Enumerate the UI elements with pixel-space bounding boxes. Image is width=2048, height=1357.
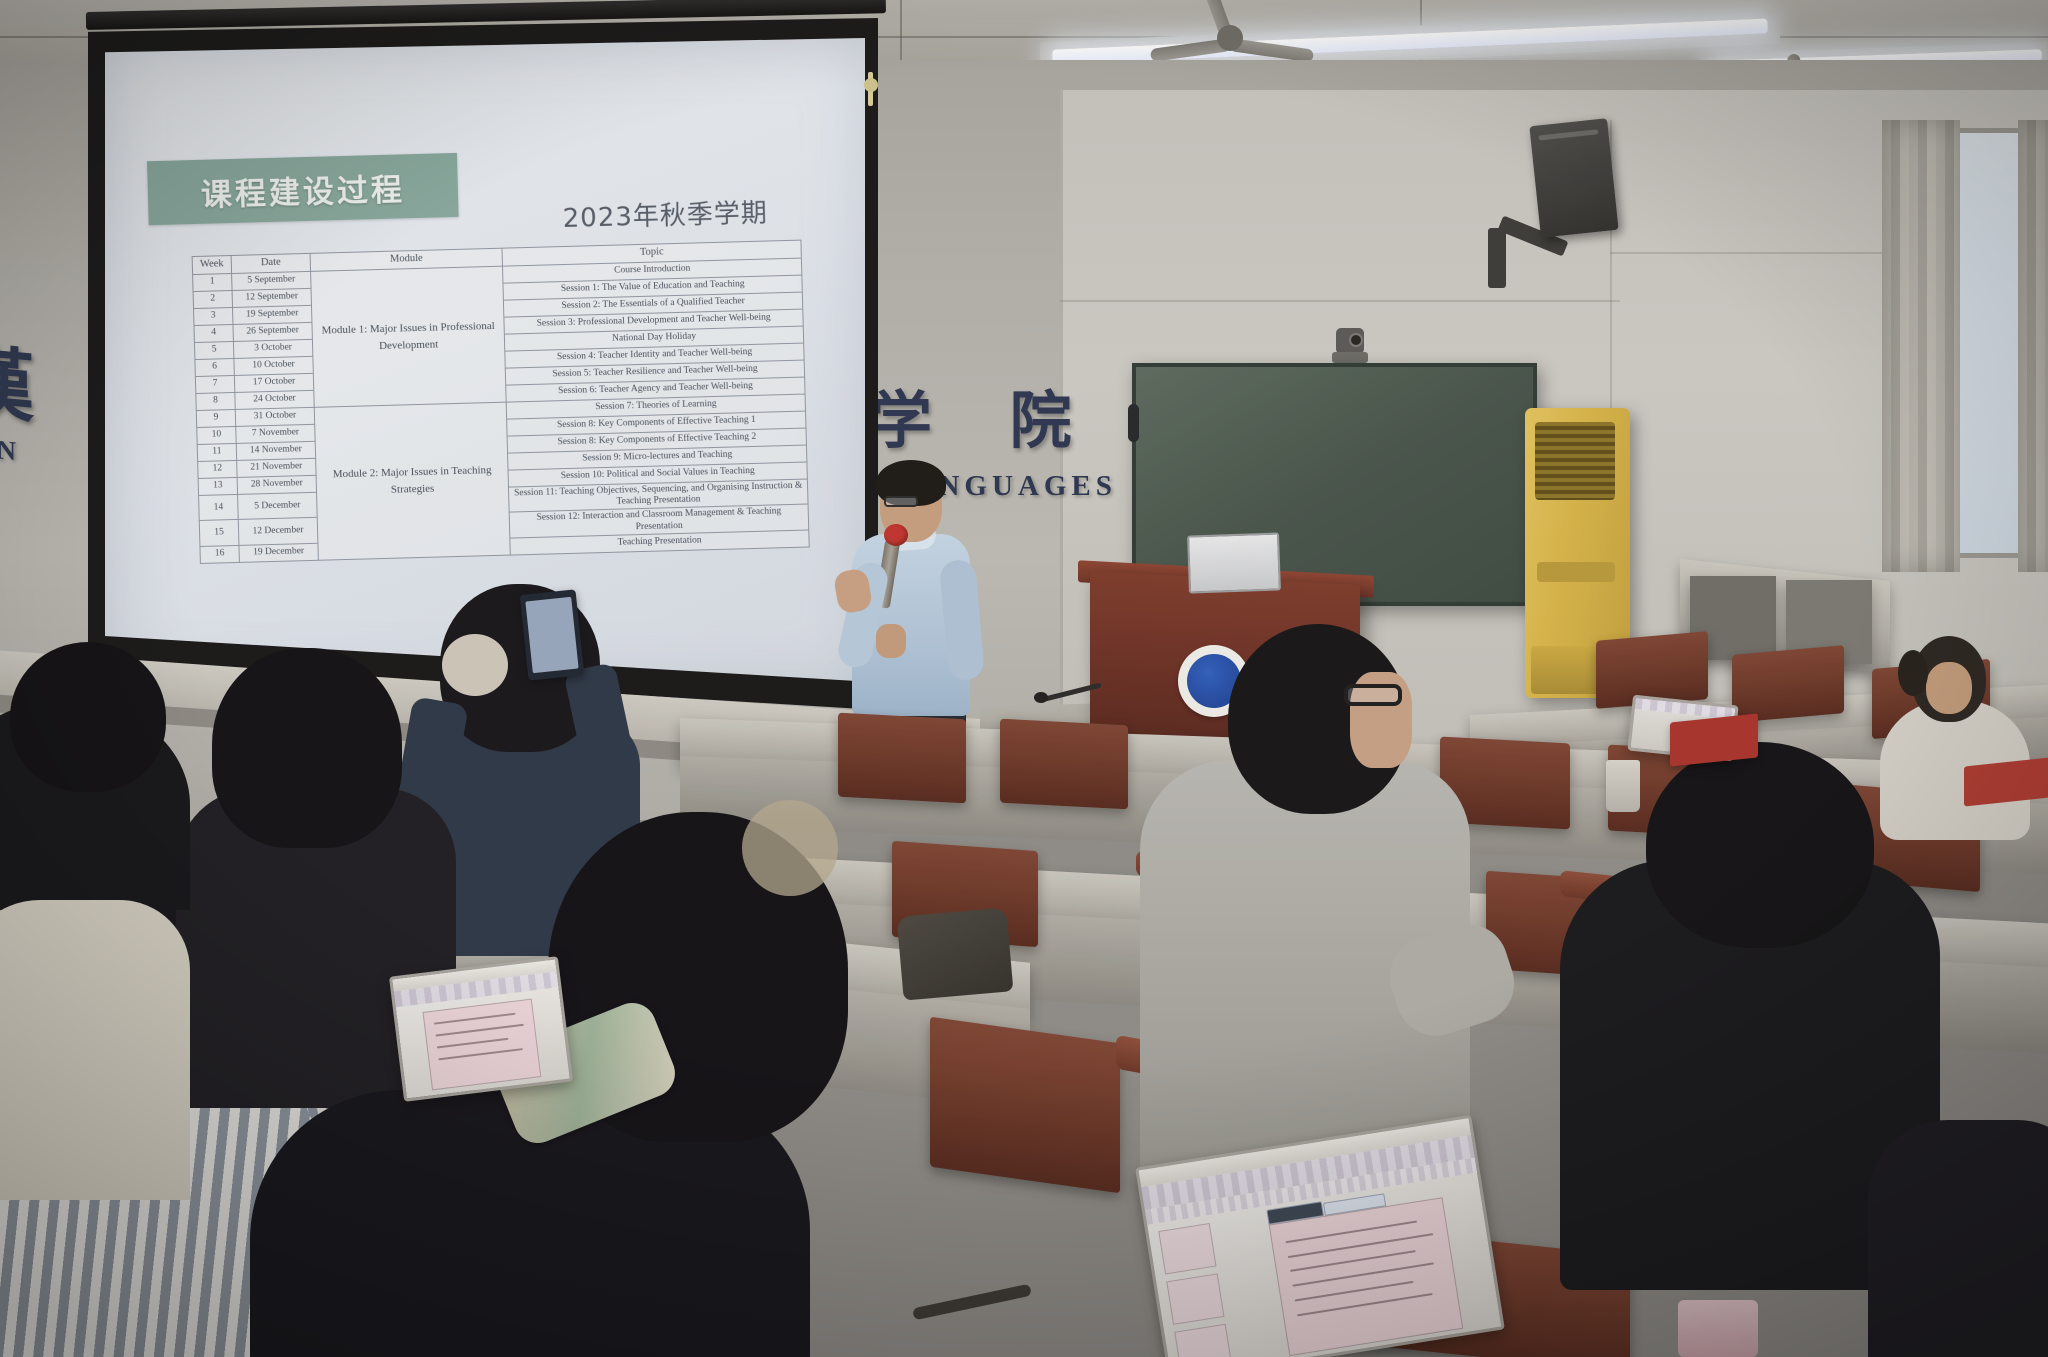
- cell-date: 12 September: [232, 288, 311, 307]
- col-date: Date: [231, 253, 310, 273]
- cell-date: 7 November: [236, 424, 315, 443]
- cell-week: 3: [194, 307, 233, 325]
- schedule-table-body: 15 SeptemberModule 1: Major Issues in Pr…: [193, 258, 810, 563]
- cell-week: 11: [197, 443, 236, 461]
- bench-seat: [1732, 645, 1844, 723]
- cell-week: 7: [195, 375, 234, 393]
- cell-date: 21 November: [237, 458, 316, 477]
- cell-date: 26 September: [233, 322, 312, 341]
- slide-banner: 课程建设过程: [147, 153, 459, 225]
- bench-seat: [930, 1017, 1120, 1194]
- cell-week: 12: [198, 460, 237, 478]
- wall-sign-right-cn: 学 院: [870, 370, 1100, 460]
- pen[interactable]: [912, 1284, 1032, 1321]
- curtain: [1882, 120, 1960, 572]
- cell-date: 24 October: [235, 390, 314, 409]
- audience-head: [1646, 742, 1874, 948]
- cell-date: 19 December: [239, 543, 318, 562]
- ac-grill: [1535, 422, 1615, 500]
- drink-cup[interactable]: [1678, 1300, 1758, 1357]
- laptop-screen[interactable]: [389, 956, 573, 1102]
- cell-date: 5 December: [238, 492, 318, 520]
- cell-week: 15: [199, 520, 239, 546]
- slide-title: 课程建设过程: [200, 164, 405, 215]
- backpack[interactable]: [897, 907, 1014, 1000]
- audience-hair: [1898, 650, 1928, 696]
- cell-week: 6: [195, 358, 234, 376]
- microphone-head-icon[interactable]: [884, 524, 908, 546]
- laptop-thumbnail[interactable]: [1174, 1323, 1232, 1357]
- course-schedule-table: Week Date Module Topic 15 SeptemberModul…: [192, 240, 810, 564]
- schedule-table-wrapper: Week Date Module Topic 15 SeptemberModul…: [192, 240, 810, 564]
- wall-seam: [1060, 300, 1620, 302]
- board-hinge: [1128, 404, 1139, 442]
- cell-week: 1: [193, 274, 232, 292]
- wall-speaker-icon: [1529, 118, 1618, 238]
- cell-week: 16: [200, 545, 239, 563]
- audience-torso: [0, 900, 190, 1200]
- cell-date: 12 December: [238, 518, 318, 546]
- laptop-document: [1269, 1197, 1463, 1356]
- cell-date: 28 November: [237, 475, 316, 494]
- cell-date: 17 October: [234, 373, 313, 392]
- wall-sign-left-en: HAN: [0, 430, 20, 467]
- presenter-glasses: [884, 496, 918, 507]
- col-week: Week: [192, 256, 231, 275]
- wall-sign-left-cn: 漢: [0, 319, 34, 438]
- laptop-document: [423, 999, 542, 1091]
- eyeglasses-icon: [1344, 684, 1402, 706]
- cell-week: 14: [199, 494, 239, 520]
- ptz-camera-icon: [1332, 328, 1368, 362]
- cell-module: Module 1: Major Issues in Professional D…: [311, 266, 507, 407]
- presenter-right-hand: [876, 624, 906, 658]
- ac-control-panel[interactable]: [1537, 562, 1615, 582]
- curtain: [2018, 120, 2048, 572]
- cell-date: 19 September: [233, 305, 312, 324]
- speaker-bracket: [1488, 228, 1506, 288]
- cell-module: Module 2: Major Issues in Teaching Strat…: [314, 402, 510, 560]
- smartphone[interactable]: [520, 589, 585, 680]
- slide-subtitle: 2023年秋季学期: [562, 192, 768, 235]
- laptop-thumbnail[interactable]: [1158, 1223, 1216, 1275]
- hair-scrunchie: [442, 634, 508, 696]
- cell-week: 2: [193, 291, 232, 309]
- cell-week: 9: [196, 409, 235, 427]
- cell-week: 10: [197, 426, 236, 444]
- cell-date: 14 November: [236, 441, 315, 460]
- bench-seat: [1000, 719, 1128, 810]
- cell-week: 13: [198, 477, 237, 495]
- red-notebook[interactable]: [1670, 713, 1758, 766]
- cell-date: 3 October: [233, 339, 312, 358]
- audience-face: [1926, 662, 1972, 714]
- audience-head: [212, 648, 402, 848]
- cell-week: 8: [196, 392, 235, 410]
- lecture-hall-photo: 漢 HAN 学 院 N LANGUAGES 课程建设过程 2023年秋季学期: [0, 0, 2048, 1357]
- cell-date: 10 October: [234, 356, 313, 375]
- presentation-slide: 课程建设过程 2023年秋季学期 Week Date Module Topic …: [118, 30, 869, 665]
- laptop-thumbnail[interactable]: [1166, 1273, 1224, 1325]
- hair-highlight: [742, 800, 838, 896]
- desk-microphone-base: [1034, 692, 1048, 703]
- cell-date: 31 October: [235, 407, 314, 426]
- cell-date: 5 September: [232, 271, 311, 290]
- ceiling-fan-icon: [1140, 10, 1320, 66]
- cell-week: 4: [194, 324, 233, 342]
- audience-head: [10, 642, 166, 792]
- cell-week: 5: [194, 341, 233, 359]
- drink-cup[interactable]: [1606, 760, 1640, 812]
- screen-pull-knob[interactable]: [864, 78, 878, 92]
- audience-torso: [1868, 1120, 2048, 1357]
- bench-seat: [838, 713, 966, 804]
- lectern-laptop[interactable]: [1187, 532, 1281, 593]
